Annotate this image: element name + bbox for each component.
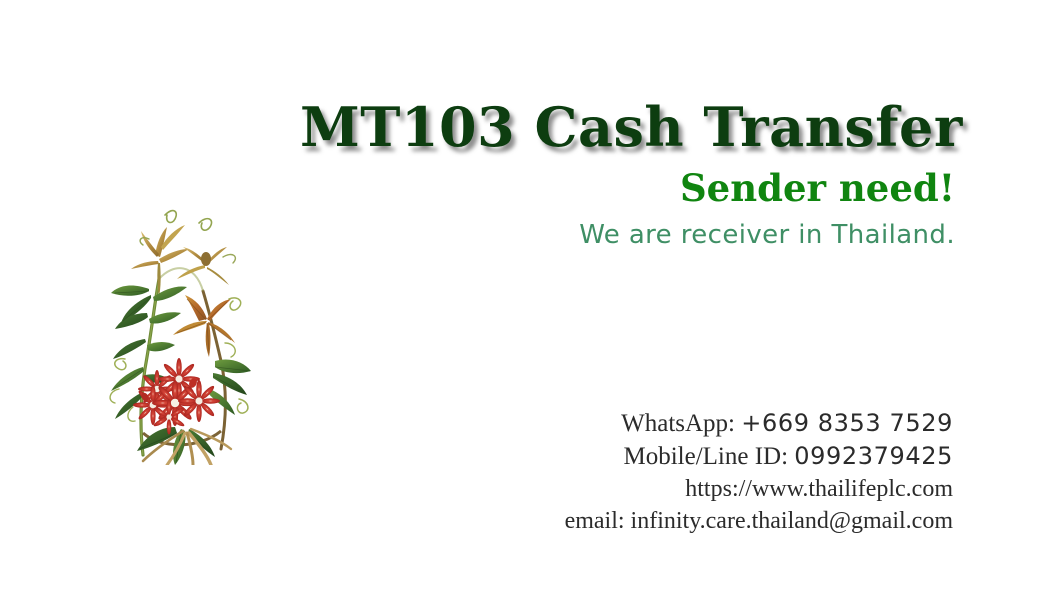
botanical-vine-wreath-illustration bbox=[103, 193, 258, 465]
email-address[interactable]: infinity.care.thailand@gmail.com bbox=[631, 508, 953, 534]
contact-line-website: https://www.thailifeplc.com bbox=[480, 473, 953, 505]
contact-line-email: email: infinity.care.thailand@gmail.com bbox=[480, 505, 953, 537]
contact-line-whatsapp: WhatsApp: +669 8353 7529 bbox=[480, 407, 953, 440]
whatsapp-label: WhatsApp: bbox=[621, 410, 735, 437]
email-label: email: bbox=[565, 508, 625, 534]
heading-block: MT103 Cash Transfer Sender need! We are … bbox=[300, 96, 955, 251]
mobile-line-id-number[interactable]: 0992379425 bbox=[794, 442, 953, 470]
subtitle: Sender need! bbox=[300, 166, 955, 210]
mobile-line-id-label: Mobile/Line ID: bbox=[623, 443, 788, 470]
tagline: We are receiver in Thailand. bbox=[300, 219, 955, 251]
whatsapp-number[interactable]: +669 8353 7529 bbox=[741, 409, 953, 437]
contact-details: WhatsApp: +669 8353 7529 Mobile/Line ID:… bbox=[480, 407, 953, 537]
page-title: MT103 Cash Transfer bbox=[300, 96, 955, 158]
contact-line-mobile: Mobile/Line ID: 0992379425 bbox=[480, 440, 953, 473]
business-card-page: MT103 Cash Transfer Sender need! We are … bbox=[0, 0, 1063, 600]
website-url[interactable]: https://www.thailifeplc.com bbox=[685, 476, 953, 502]
